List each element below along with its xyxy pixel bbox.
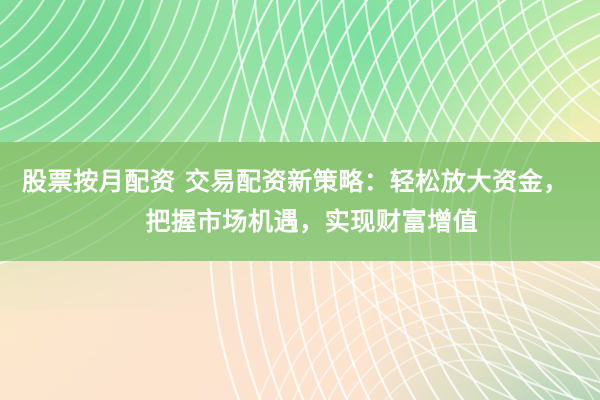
headline-banner: 股票按月配资 交易配资新策略：轻松放大资金， 把握市场机遇，实现财富增值	[0, 142, 600, 261]
headline-line-1: 股票按月配资 交易配资新策略：轻松放大资金，	[22, 162, 569, 202]
headline-text-block: 股票按月配资 交易配资新策略：轻松放大资金， 把握市场机遇，实现财富增值	[0, 142, 600, 261]
banner-image: 股票按月配资 交易配资新策略：轻松放大资金， 把握市场机遇，实现财富增值	[0, 0, 600, 400]
headline-line-2: 把握市场机遇，实现财富增值	[146, 202, 479, 242]
background-green-glow-bottom-right	[370, 260, 600, 400]
